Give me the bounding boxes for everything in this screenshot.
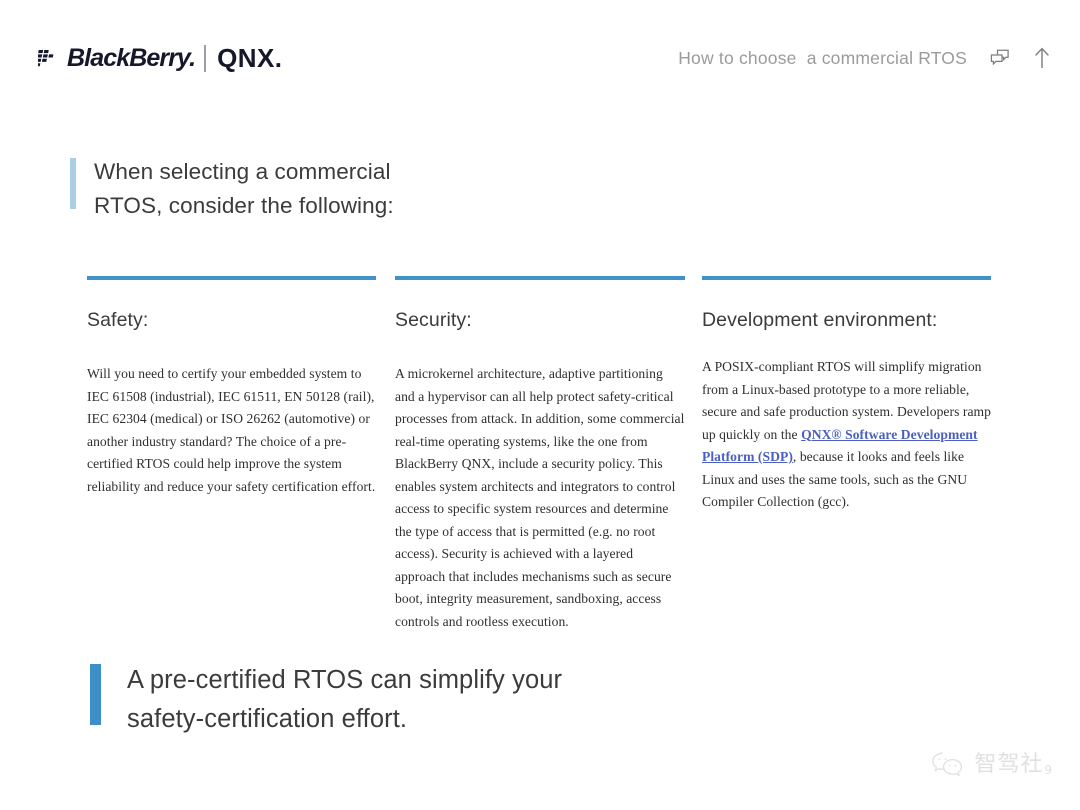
column-development-environment: Development environment: A POSIX-complia… — [702, 276, 991, 514]
watermark-number: 9 — [1044, 763, 1052, 777]
watermark-text: 智驾社 — [974, 754, 1043, 776]
slide-canvas: BlackBerry. QNX. How to choose a commerc… — [0, 0, 1080, 810]
callout-accent-bar — [90, 664, 101, 725]
watermark: 智驾社 9 — [931, 751, 1052, 778]
column-body-safety: Will you need to certify your embedded s… — [87, 363, 376, 498]
arrow-up-icon[interactable] — [1031, 47, 1053, 69]
wechat-bubbles-icon — [931, 751, 965, 778]
logo-text-qnx: QNX. — [217, 45, 282, 71]
column-rule — [395, 276, 685, 280]
column-rule — [87, 276, 376, 280]
bottom-callout: A pre-certified RTOS can simplify your s… — [90, 661, 597, 739]
headline-text: When selecting a commercial RTOS, consid… — [94, 155, 404, 223]
logo-text-blackberry: BlackBerry. — [67, 46, 195, 71]
header-right-group: How to choose a commercial RTOS — [678, 43, 1053, 73]
column-security: Security: A microkernel architecture, ad… — [395, 276, 685, 633]
column-safety: Safety: Will you need to certify your em… — [87, 276, 376, 498]
brand-logo: BlackBerry. QNX. — [38, 43, 282, 73]
column-body-development-environment: A POSIX-compliant RTOS will simplify mig… — [702, 356, 991, 514]
logo-divider — [204, 45, 206, 72]
callout-text: A pre-certified RTOS can simplify your s… — [127, 661, 597, 739]
column-heading-security: Security: — [395, 306, 685, 335]
headline-accent-bar — [70, 158, 76, 209]
blackberry-dots-icon — [38, 49, 62, 68]
document-title: How to choose a commercial RTOS — [678, 48, 967, 69]
column-body-security: A microkernel architecture, adaptive par… — [395, 363, 685, 633]
column-heading-development-environment: Development environment: — [702, 306, 991, 335]
comment-bubbles-icon[interactable] — [989, 47, 1011, 69]
slide-header: BlackBerry. QNX. How to choose a commerc… — [0, 0, 1080, 100]
column-rule — [702, 276, 991, 280]
column-heading-safety: Safety: — [87, 306, 376, 335]
headline-block: When selecting a commercial RTOS, consid… — [70, 155, 404, 223]
